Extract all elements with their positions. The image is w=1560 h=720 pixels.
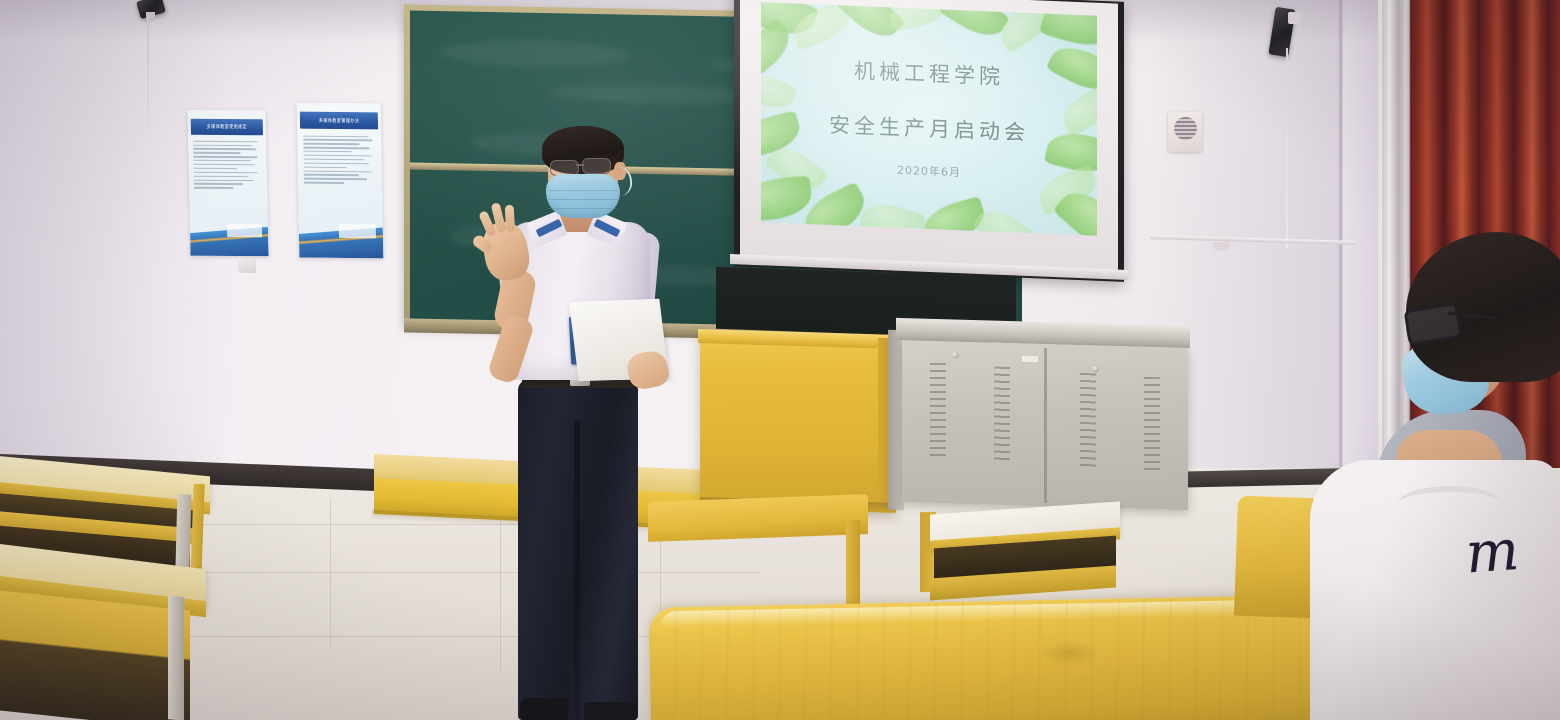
poster-body-2	[303, 135, 377, 216]
poster-logo-1	[227, 224, 262, 237]
cabinet-label-tag	[1022, 356, 1038, 362]
wall-trim-knob	[1213, 242, 1230, 251]
student-front-collar	[1398, 486, 1502, 522]
poster-body-1	[194, 140, 263, 216]
wall-poster-regulations-2: 多媒体教室管理办法	[297, 103, 384, 259]
cabinet-lock-right[interactable]	[1092, 365, 1099, 372]
slide-title-line-1: 机械工程学院	[761, 51, 1097, 95]
lectern[interactable]	[700, 331, 896, 513]
speaker-mount-right	[1288, 12, 1300, 24]
front-bench-wear-mark	[1040, 639, 1100, 666]
speaker-cable-left	[147, 17, 149, 127]
left-desk-front-body	[0, 589, 190, 720]
mid-bench-post	[846, 520, 860, 612]
slide-content-area: 机械工程学院 安全生产月启动会 2020年6月	[761, 3, 1097, 236]
presenter-glasses-lens-right	[582, 158, 611, 174]
projection-screen-surface[interactable]: 机械工程学院 安全生产月启动会 2020年6月	[740, 0, 1118, 272]
wall-poster-regulations-1: 多媒体教室使用规定	[187, 110, 268, 257]
power-socket[interactable]	[238, 258, 256, 273]
presenter-shoe-left	[520, 698, 568, 720]
presenter-glasses-bridge	[576, 164, 584, 166]
slide-title-line-2: 安全生产月启动会	[761, 106, 1097, 150]
presenter-face-mask	[546, 174, 620, 218]
poster-header-text-2: 多媒体教室管理办法	[319, 117, 360, 125]
classroom-scene: 多媒体教室使用规定 多媒体教室管理办法	[0, 0, 1560, 720]
left-desk-front-leg	[168, 595, 184, 720]
poster-header-band-2: 多媒体教室管理办法	[300, 112, 378, 130]
presenter-leg-seam	[574, 420, 580, 720]
poster-header-band-1: 多媒体教室使用规定	[191, 119, 263, 136]
student-front-shirt-logo: m	[1464, 523, 1542, 586]
presenter-mask-ear-loop	[612, 165, 634, 197]
poster-logo-2	[339, 224, 376, 238]
speaker-cable-right	[1286, 48, 1288, 248]
student-attendee-front: m	[1310, 430, 1560, 720]
wall-vent-icon	[1174, 117, 1197, 140]
presenter-shoe-right	[584, 702, 636, 720]
cabinet-lock-left[interactable]	[952, 351, 959, 358]
poster-header-text-1: 多媒体教室使用规定	[206, 123, 247, 131]
cabinet-door-seam	[1044, 348, 1047, 503]
